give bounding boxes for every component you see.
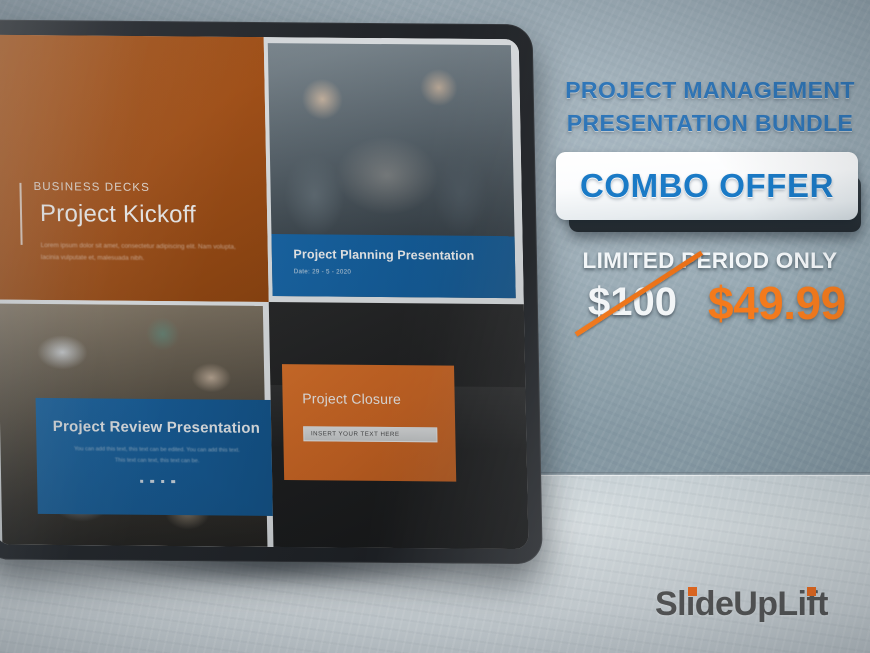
combo-offer-banner: COMBO OFFER [556,152,864,236]
discounted-price: $49.99 [708,276,846,330]
tablet-device: BUSINESS DECKS Project Kickoff Lorem ips… [0,20,569,610]
promo-banner: BUSINESS DECKS Project Kickoff Lorem ips… [0,0,870,653]
slide-deck-grid: BUSINESS DECKS Project Kickoff Lorem ips… [0,35,529,550]
closure-card: Project Closure INSERT YOUR TEXT HERE [282,364,456,481]
promo-text-block: PROJECT MANAGEMENT PRESENTATION BUNDLE C… [556,74,864,338]
kickoff-text-block: BUSINESS DECKS Project Kickoff Lorem ips… [19,181,249,266]
planning-date: Date: 29 - 5 - 2020 [294,268,516,277]
pagination-dot[interactable] [161,480,165,484]
combo-banner-plate: COMBO OFFER [556,152,858,220]
pagination-dot[interactable] [150,479,154,483]
limited-period-label: LIMITED PERIOD ONLY [556,248,864,274]
tablet-bezel: BUSINESS DECKS Project Kickoff Lorem ips… [0,20,543,565]
pagination-dot[interactable] [140,479,144,483]
kickoff-accent-bar [19,183,22,245]
tablet-screen: BUSINESS DECKS Project Kickoff Lorem ips… [0,35,529,550]
planning-caption-bar: Project Planning Presentation Date: 29 -… [271,234,516,298]
review-pagination-dots[interactable] [37,478,273,484]
slide-project-closure[interactable]: Project Closure INSERT YOUR TEXT HERE [268,302,528,549]
kickoff-eyebrow: BUSINESS DECKS [33,181,248,195]
review-overlay-bar: Project Review Presentation You can add … [36,398,274,516]
kickoff-body-text: Lorem ipsum dolor sit amet, consectetur … [41,240,247,265]
headline-line-2: PRESENTATION BUNDLE [556,107,864,140]
closure-title: Project Closure [302,390,454,407]
review-title: Project Review Presentation [36,418,273,437]
slide-project-review[interactable]: Project Review Presentation You can add … [0,300,273,547]
combo-offer-label: COMBO OFFER [580,167,834,205]
logo-square-icon [807,587,816,596]
price-row: $100 $49.99 [556,276,864,338]
slide-project-planning[interactable]: Project Planning Presentation Date: 29 -… [263,37,524,304]
slide-project-kickoff[interactable]: BUSINESS DECKS Project Kickoff Lorem ips… [0,35,268,303]
pagination-dot[interactable] [171,480,175,484]
logo-square-icon [688,587,697,596]
brand-logo[interactable]: SlideUpLift [655,585,828,624]
review-body-text: You can add this text, this text can be … [72,444,242,468]
brand-logo-text: SlideUpLift [655,585,828,624]
headline-line-1: PROJECT MANAGEMENT [556,74,864,107]
promo-headline: PROJECT MANAGEMENT PRESENTATION BUNDLE [556,74,864,139]
closure-text-input[interactable]: INSERT YOUR TEXT HERE [303,426,437,442]
planning-title: Project Planning Presentation [293,247,515,263]
kickoff-title: Project Kickoff [40,200,249,230]
